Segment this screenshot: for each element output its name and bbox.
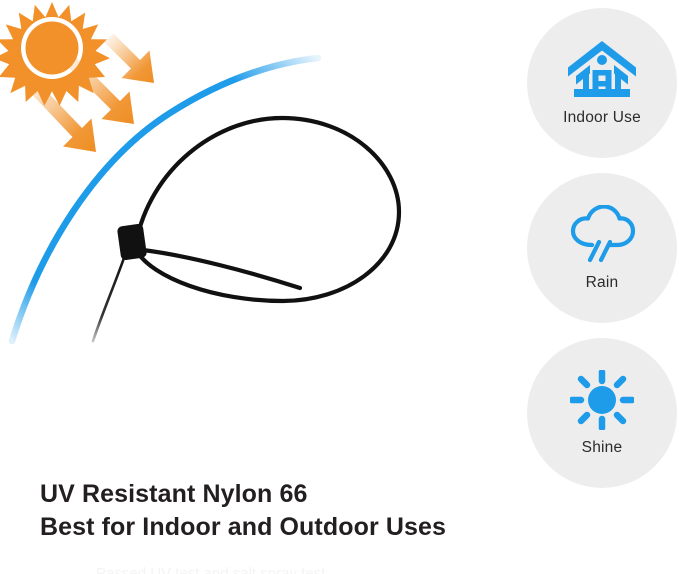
uv-resistance-illustration <box>0 0 520 470</box>
feature-badge-column: Indoor Use Rain <box>527 8 679 490</box>
headline-line-1: UV Resistant Nylon 66 <box>40 478 500 511</box>
uv-ray-arrow <box>104 34 154 84</box>
infographic-canvas: UV Resistant Nylon 66 Best for Indoor an… <box>0 0 679 574</box>
badge-label-shine: Shine <box>582 439 623 457</box>
badge-indoor-use: Indoor Use <box>527 8 677 158</box>
cable-tie-icon <box>93 118 399 341</box>
badge-shine: Shine <box>527 338 677 488</box>
headline-line-2: Best for Indoor and Outdoor Uses <box>40 511 500 544</box>
clipped-bottom-text: Passed UV test and salt spray test <box>96 566 496 574</box>
badge-label-rain: Rain <box>586 274 619 292</box>
sun-shine-icon <box>567 370 637 430</box>
badge-label-indoor-use: Indoor Use <box>563 109 641 127</box>
headline-block: UV Resistant Nylon 66 Best for Indoor an… <box>40 478 500 544</box>
house-icon <box>567 40 637 102</box>
rain-cloud-icon <box>567 205 637 263</box>
badge-rain: Rain <box>527 173 677 323</box>
